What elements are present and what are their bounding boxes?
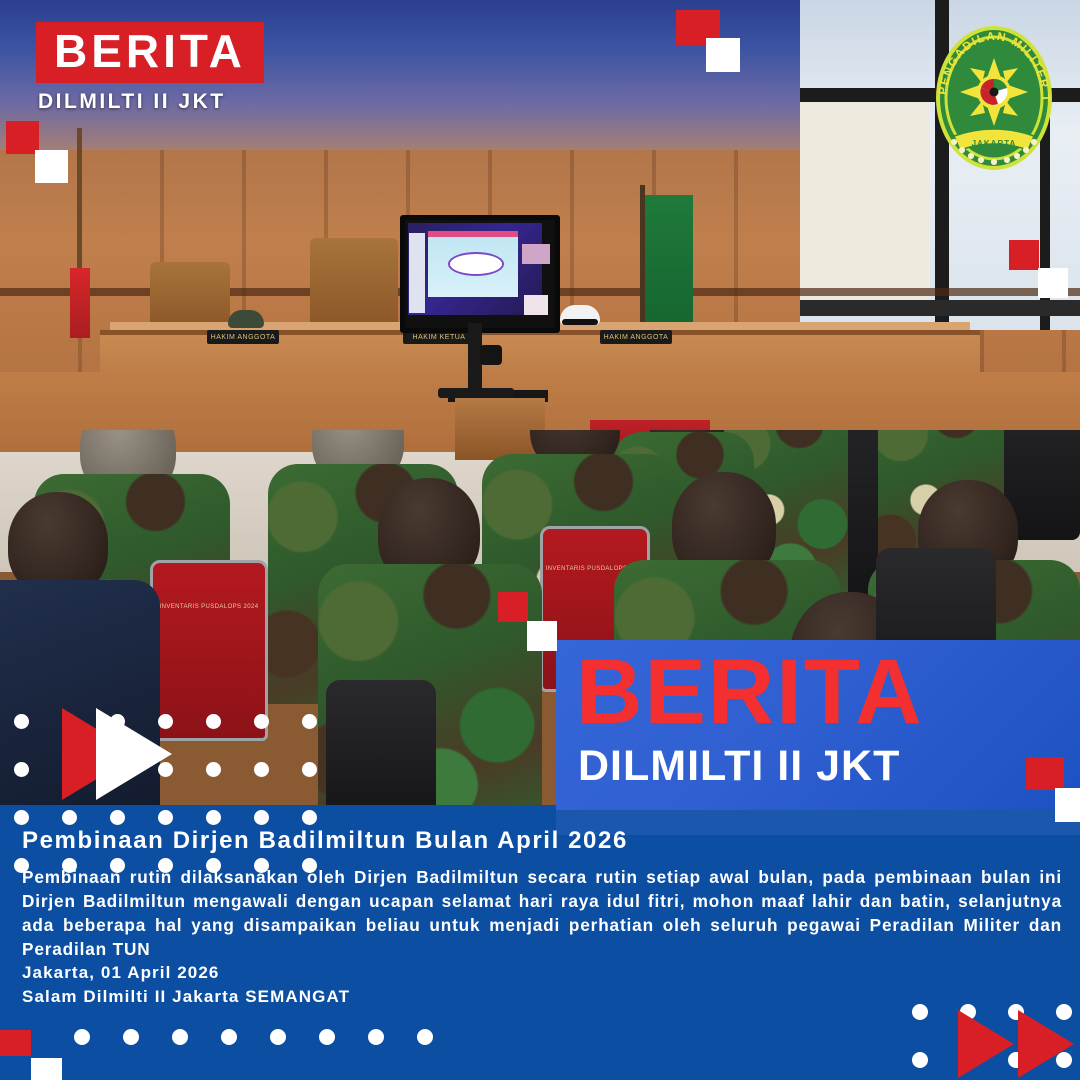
judge-chair-center xyxy=(310,238,398,334)
dot-row xyxy=(74,1029,466,1080)
dot xyxy=(221,1029,237,1045)
dot-row xyxy=(14,810,350,858)
television-stand-base xyxy=(438,388,514,398)
decor-square-white-right xyxy=(1038,268,1068,298)
decor-square-red-right xyxy=(1009,240,1039,270)
dot xyxy=(172,1029,188,1045)
article-signature: Jakarta, 01 April 2026 Salam Dilmilti II… xyxy=(22,961,822,1009)
dot xyxy=(368,1029,384,1045)
article-closing: Salam Dilmilti II Jakarta SEMANGAT xyxy=(22,985,822,1009)
dot xyxy=(302,810,317,825)
nameplate-right: HAKIM ANGGOTA xyxy=(600,330,672,344)
berita-panel-title: BERITA xyxy=(576,646,924,738)
dot-grid-bottom-left xyxy=(74,1029,466,1080)
dot xyxy=(302,762,317,777)
dot xyxy=(14,810,29,825)
presentation-thumbnail-1 xyxy=(522,244,550,264)
presentation-slide-titlebar xyxy=(428,231,518,237)
article-place-date: Jakarta, 01 April 2026 xyxy=(22,961,822,985)
decor-square-white-left xyxy=(35,150,68,183)
court-emblem-logo: PENGADILAN MILITER TINGGI II xyxy=(924,18,1064,173)
berita-panel-subtitle: DILMILTI II JKT xyxy=(578,745,900,788)
nameplate-left: HAKIM ANGGOTA xyxy=(207,330,279,344)
dot xyxy=(206,810,221,825)
dot xyxy=(158,810,173,825)
svg-text:JAKARTA: JAKARTA xyxy=(972,139,1017,148)
chair-label-1: INVENTARIS PUSDALOPS 2024 xyxy=(153,603,265,611)
header-brand: BERITA DILMILTI II JKT xyxy=(36,22,264,114)
dot xyxy=(14,762,29,777)
header-berita-bar: BERITA xyxy=(36,22,264,83)
dot xyxy=(206,762,221,777)
dot xyxy=(254,858,269,873)
decor-square-white-top xyxy=(706,38,740,72)
dot xyxy=(14,714,29,729)
play-triangle-red-2 xyxy=(958,1010,1014,1078)
header-subtitle: DILMILTI II JKT xyxy=(38,90,264,114)
presentation-slide-oval xyxy=(448,252,504,276)
dot xyxy=(912,1052,928,1068)
dot xyxy=(110,810,125,825)
dot xyxy=(206,714,221,729)
dot xyxy=(110,858,125,873)
dot xyxy=(62,810,77,825)
news-poster: HAKIM ANGGOTA HAKIM KETUA HAKIM ANGGOTA xyxy=(0,0,1080,1080)
header-berita-text: BERITA xyxy=(54,28,246,74)
dot xyxy=(62,858,77,873)
play-triangle-red-3 xyxy=(1018,1010,1074,1078)
dot xyxy=(302,858,317,873)
dot xyxy=(206,858,221,873)
dot xyxy=(254,714,269,729)
video-conference-camera xyxy=(480,345,502,365)
decor-square-red-bottom xyxy=(0,1030,31,1056)
decor-square-white-panel xyxy=(1055,788,1080,822)
decor-square-red-panel xyxy=(1026,757,1064,790)
decor-square-white-bottom xyxy=(31,1058,62,1080)
dot xyxy=(302,714,317,729)
dot xyxy=(912,1004,928,1020)
berita-panel: BERITA DILMILTI II JKT xyxy=(556,640,1080,810)
indonesian-flag xyxy=(70,268,90,338)
dot xyxy=(254,762,269,777)
dot xyxy=(270,1029,286,1045)
dot xyxy=(417,1029,433,1045)
dot xyxy=(74,1029,90,1045)
dot xyxy=(123,1029,139,1045)
play-triangle-white xyxy=(96,708,172,800)
beret-on-bench xyxy=(228,310,264,328)
decor-square-white-mid xyxy=(527,621,557,651)
dot xyxy=(158,858,173,873)
officer-cap-on-bench xyxy=(560,305,600,325)
dot xyxy=(319,1029,335,1045)
dot-row xyxy=(14,858,350,906)
dot xyxy=(14,858,29,873)
wall-cream-panel xyxy=(800,100,930,310)
presentation-sidebar xyxy=(409,233,425,313)
presentation-thumbnail-2 xyxy=(524,295,548,315)
window-sill xyxy=(800,300,1080,316)
dot xyxy=(254,810,269,825)
decor-square-red-mid xyxy=(498,592,528,622)
